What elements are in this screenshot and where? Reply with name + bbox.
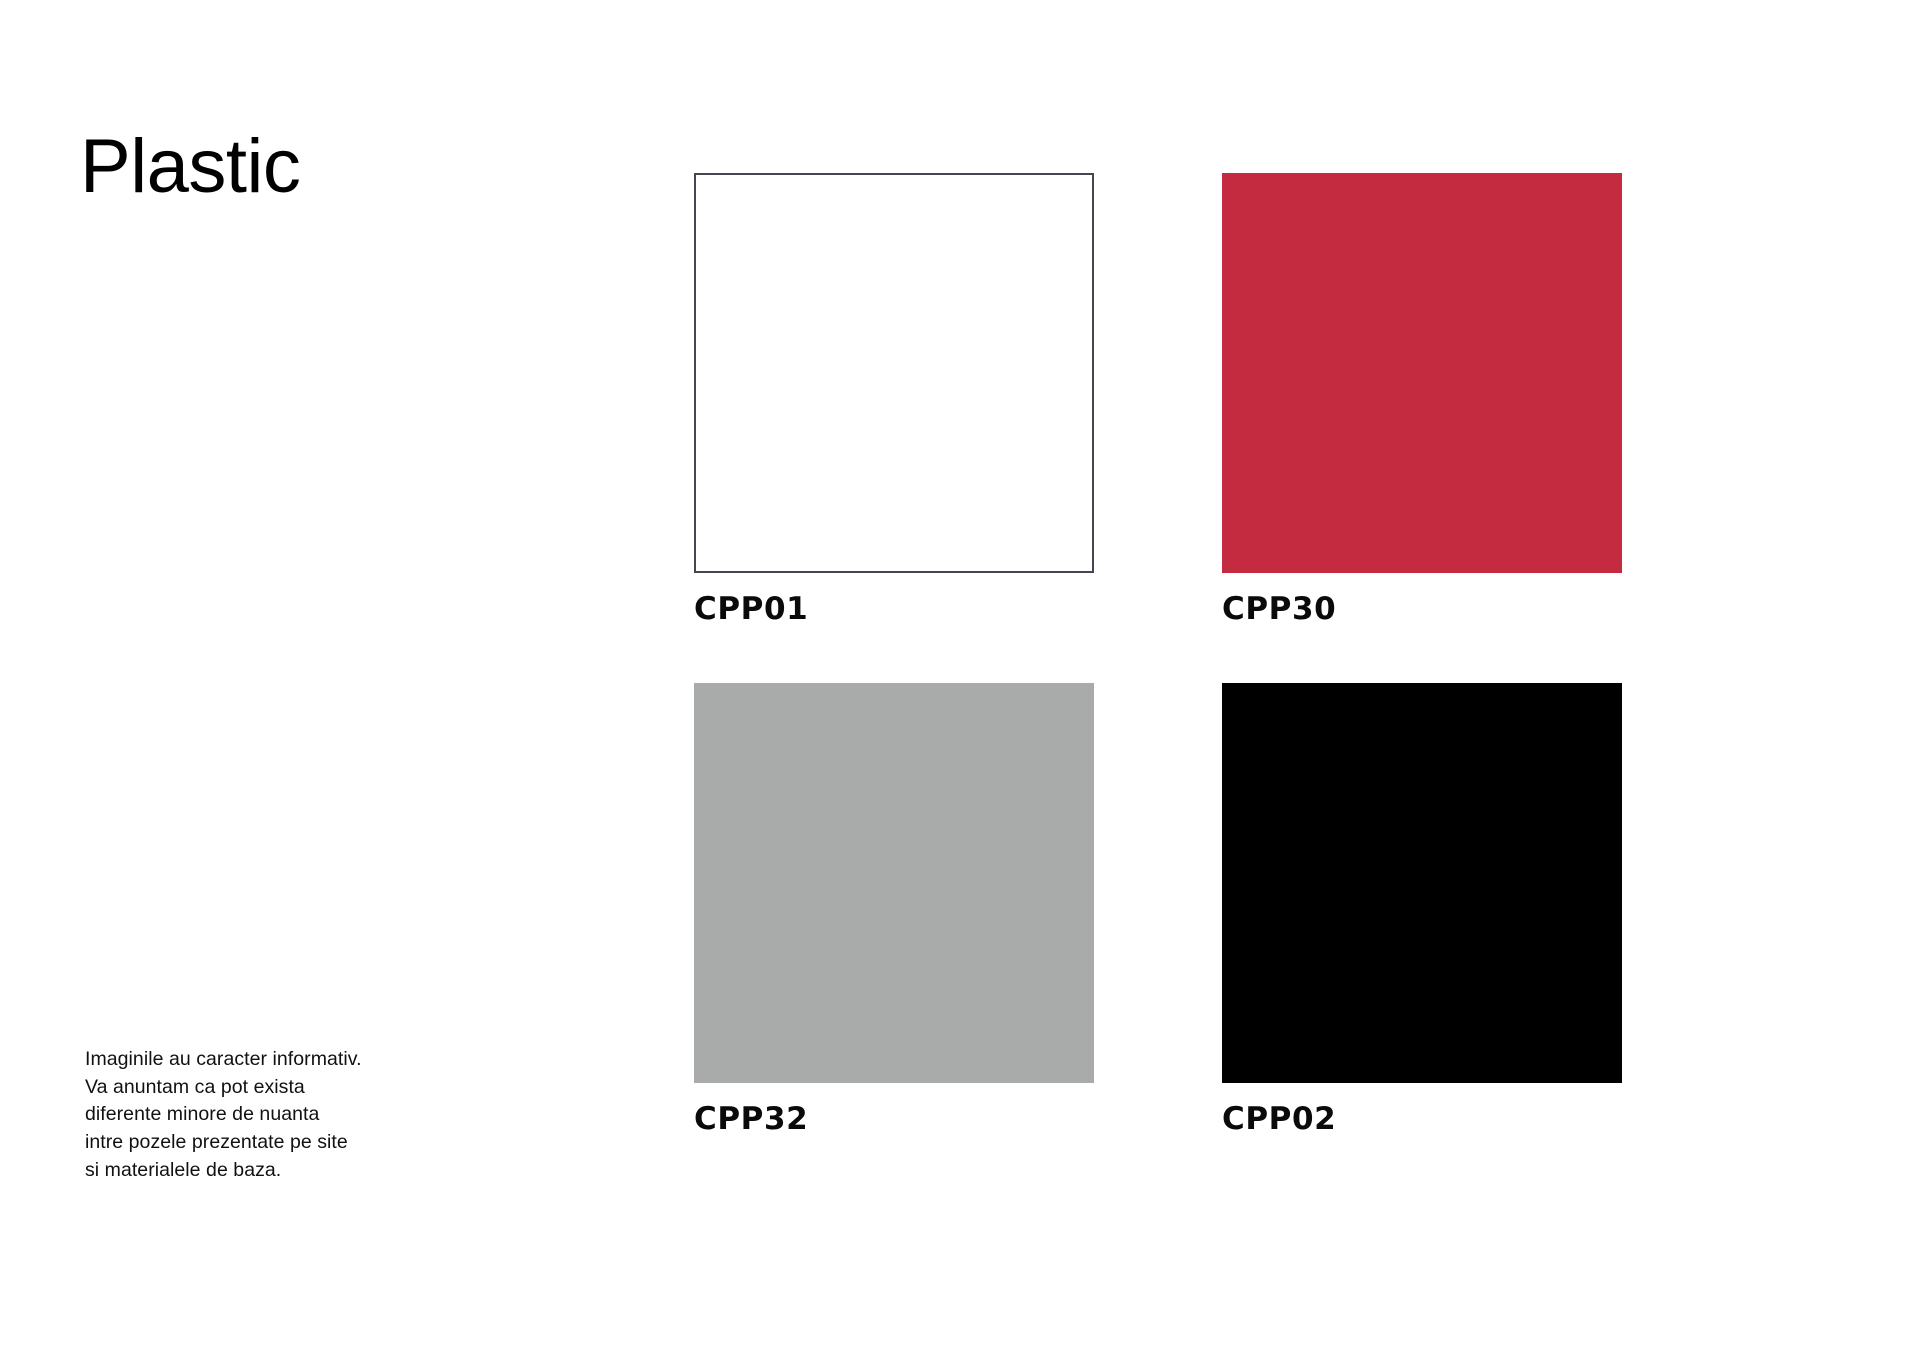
color-swatch-cpp32[interactable] [694, 683, 1094, 1083]
disclaimer-line: Va anuntam ca pot exista [85, 1074, 485, 1102]
swatch-label-cpp32: CPP32 [694, 1104, 1094, 1135]
swatch-cell-cpp02[interactable]: CPP02 [1222, 683, 1622, 1135]
page-title: Plastic [80, 129, 300, 205]
disclaimer-line: Imaginile au caracter informativ. [85, 1046, 485, 1074]
color-swatch-cpp30[interactable] [1222, 173, 1622, 573]
swatch-grid: CPP01 CPP30 CPP32 CPP02 [694, 173, 1622, 1135]
disclaimer-line: diferente minore de nuanta [85, 1101, 485, 1129]
color-swatch-cpp02[interactable] [1222, 683, 1622, 1083]
swatch-cell-cpp01[interactable]: CPP01 [694, 173, 1094, 625]
swatch-label-cpp30: CPP30 [1222, 594, 1622, 625]
swatch-cell-cpp30[interactable]: CPP30 [1222, 173, 1622, 625]
disclaimer-line: si materialele de baza. [85, 1157, 485, 1185]
swatch-cell-cpp32[interactable]: CPP32 [694, 683, 1094, 1135]
disclaimer-line: intre pozele prezentate pe site [85, 1129, 485, 1157]
color-swatch-cpp01[interactable] [694, 173, 1094, 573]
swatch-label-cpp01: CPP01 [694, 594, 1094, 625]
swatch-label-cpp02: CPP02 [1222, 1104, 1622, 1135]
disclaimer-text: Imaginile au caracter informativ. Va anu… [85, 1046, 485, 1184]
